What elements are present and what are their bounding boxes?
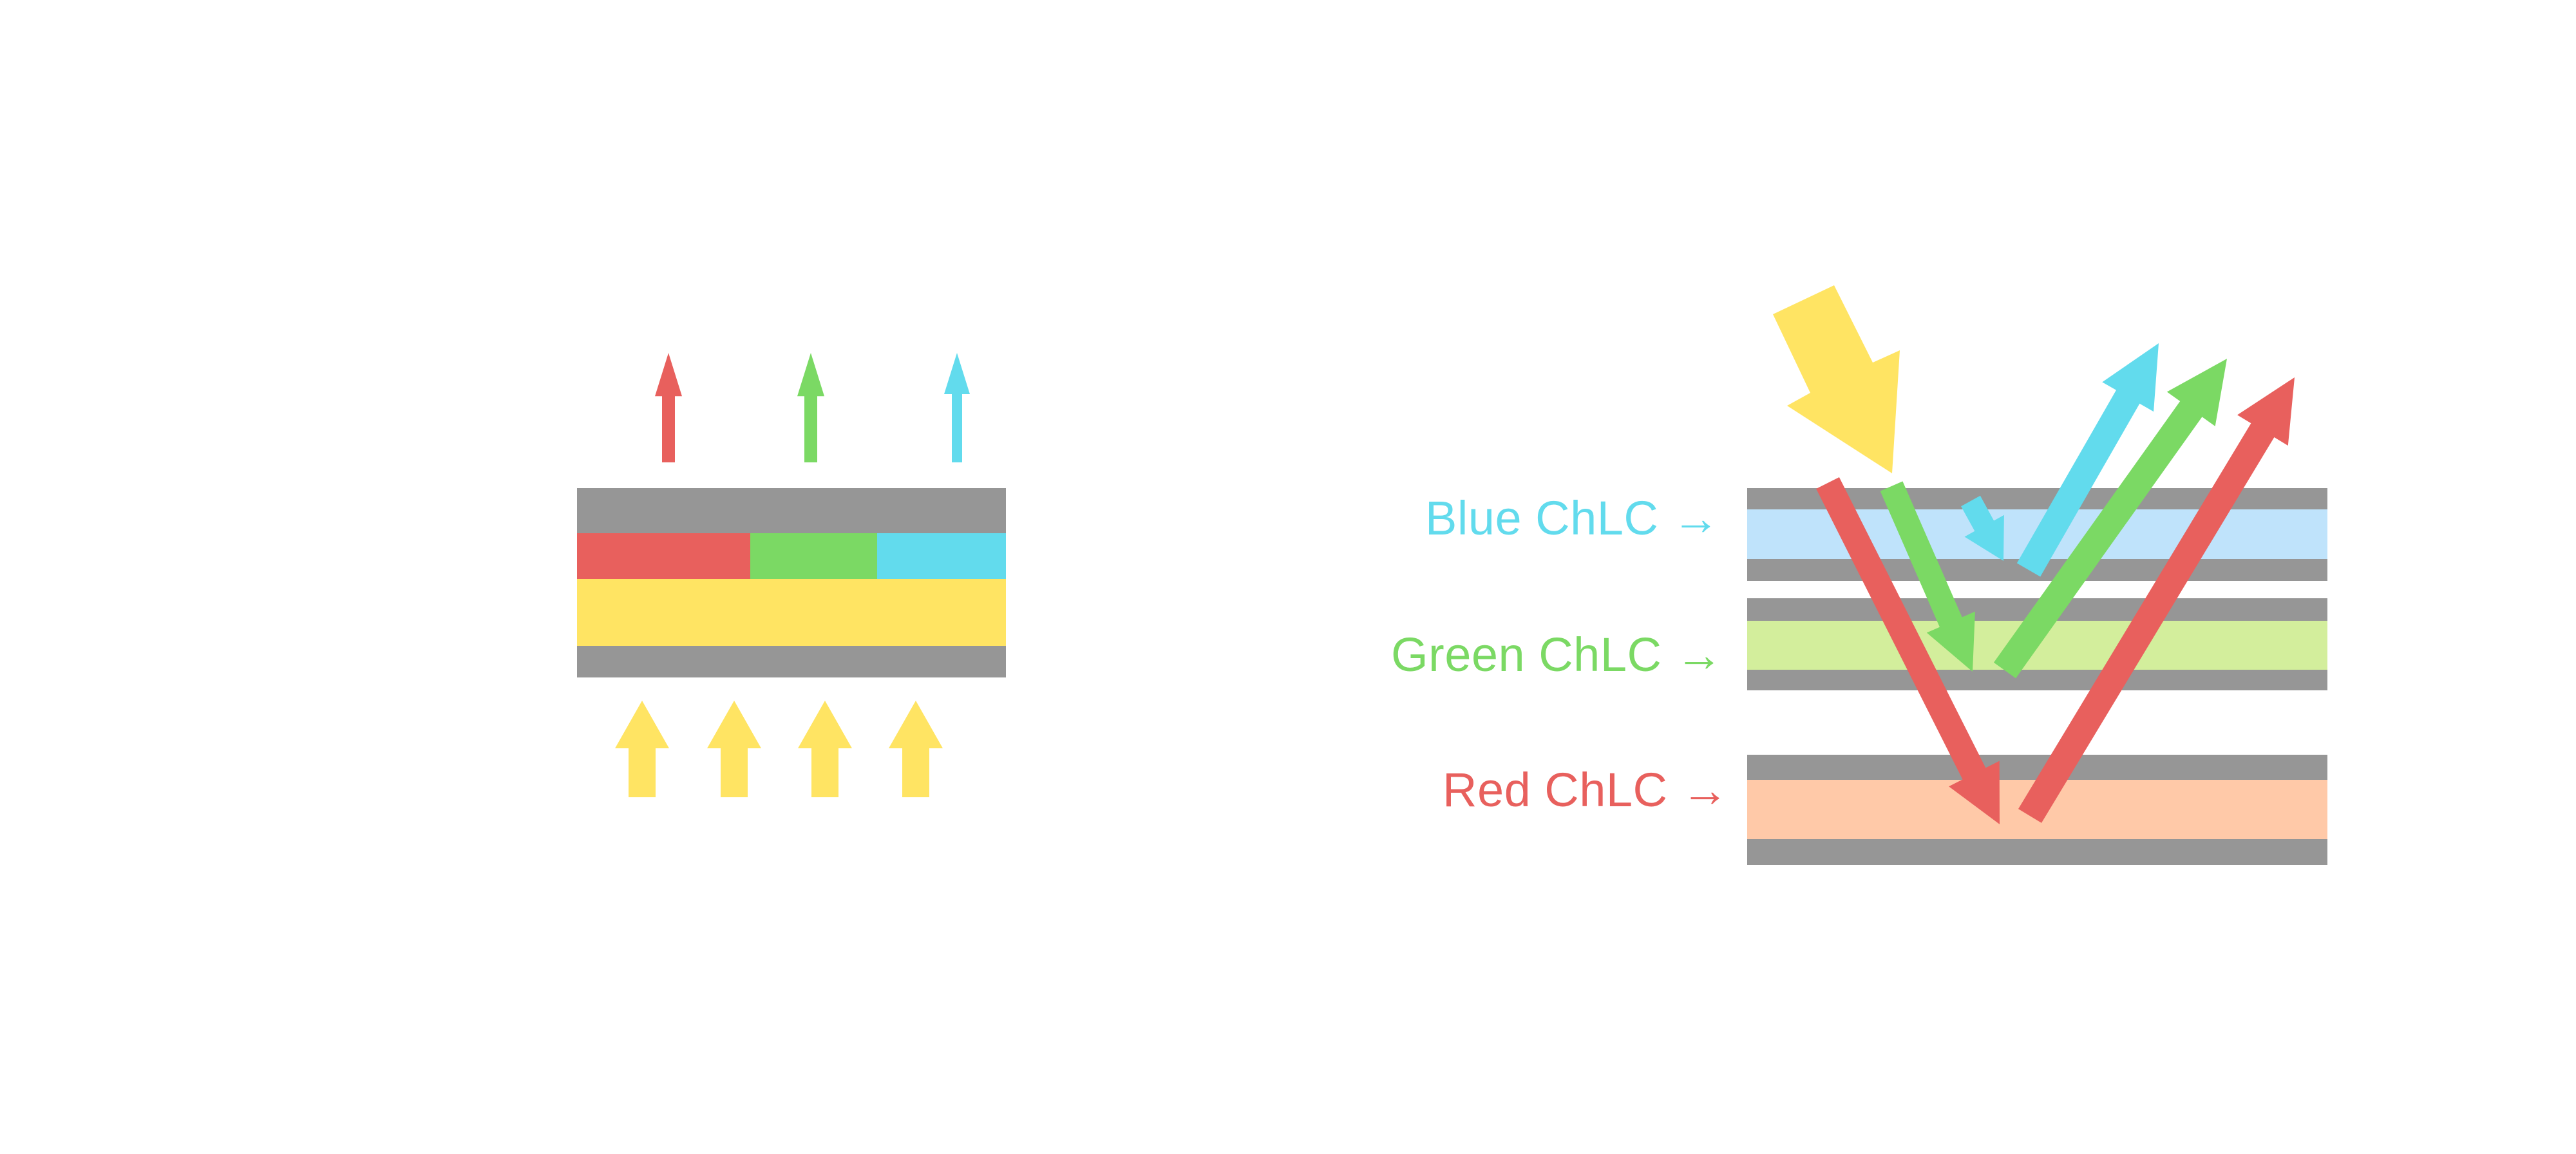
diagram-canvas: Blue ChLC →Green ChLC →Red ChLC → (0, 0, 2576, 1154)
red-chlc-group-top-electrode (1747, 755, 2327, 780)
left-emission-diagram (577, 353, 1006, 797)
yellow-backlight-arrows-4 (889, 701, 943, 797)
red-emission-arrow (655, 353, 682, 462)
green-chlc-group-bottom-electrode (1747, 670, 2327, 690)
green-chlc-group-label: Green ChLC → (1391, 628, 1723, 681)
yellow-backlight-arrows-3 (798, 701, 852, 797)
red-chlc-group-bottom-electrode (1747, 839, 2327, 865)
top-electrode (577, 488, 1006, 533)
red-filter (577, 533, 750, 579)
chlc-display-diagram: Blue ChLC →Green ChLC →Red ChLC → (0, 0, 2576, 1154)
green-filter (750, 533, 877, 579)
incident-white-light-arrow (1773, 285, 1900, 473)
yellow-backlight-layer (577, 579, 1006, 646)
yellow-backlight-arrows-1 (615, 701, 669, 797)
bottom-electrode (577, 646, 1006, 677)
blue-filter (877, 533, 1006, 579)
yellow-backlight-arrows-2 (707, 701, 761, 797)
green-emission-arrow (797, 353, 824, 462)
blue-chlc-group-label: Blue ChLC → (1425, 491, 1720, 545)
chlc-layer-labels: Blue ChLC →Green ChLC →Red ChLC → (1391, 491, 1729, 817)
blue-emission-arrow (944, 353, 970, 462)
red-chlc-group-label: Red ChLC → (1443, 763, 1729, 817)
right-chlc-reflection-diagram (1747, 285, 2327, 865)
